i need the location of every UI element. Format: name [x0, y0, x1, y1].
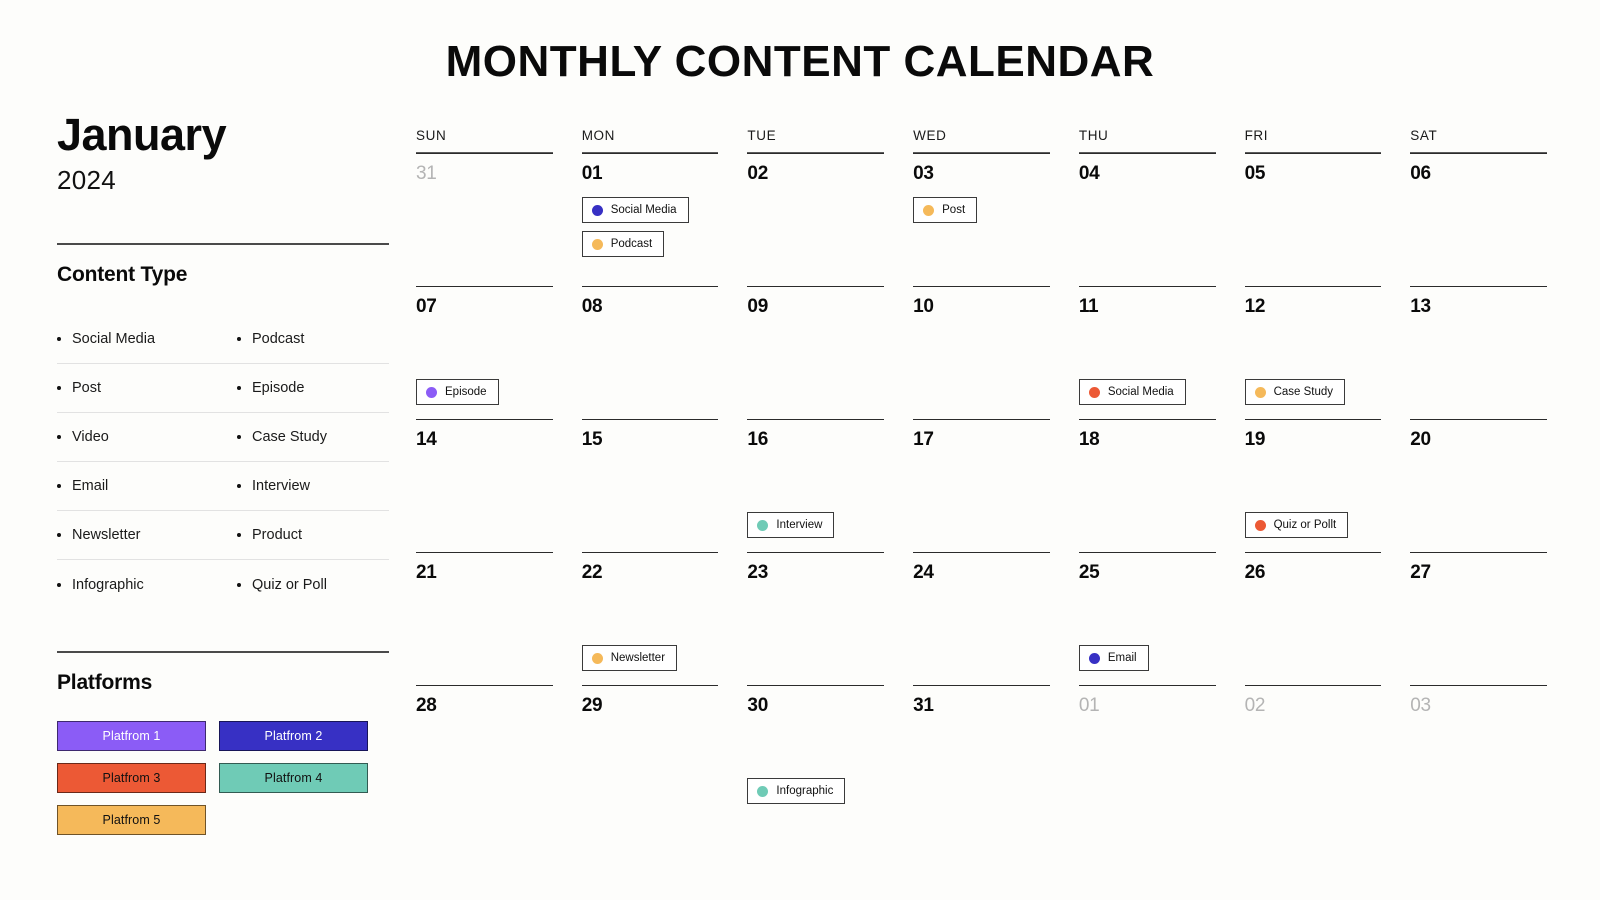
day-number: 02	[747, 163, 884, 185]
calendar-day-cell[interactable]: 14	[416, 419, 553, 552]
calendar-grid: SUNMONTUEWEDTHUFRISAT3101Social MediaPod…	[416, 128, 1547, 818]
day-of-week-header: SAT	[1410, 128, 1547, 153]
platform-chip[interactable]: Platfrom 1	[57, 721, 206, 751]
day-number: 05	[1245, 163, 1382, 185]
day-event-list: Episode	[416, 379, 499, 405]
day-number: 12	[1245, 296, 1382, 318]
bullet-icon	[237, 484, 241, 488]
calendar-day-cell[interactable]: 27	[1410, 552, 1547, 685]
bullet-icon	[57, 435, 61, 439]
bullet-icon	[57, 533, 61, 537]
content-type-row: NewsletterProduct	[57, 511, 389, 560]
day-event-list: Email	[1079, 645, 1149, 671]
bullet-icon	[57, 337, 61, 341]
platform-chip[interactable]: Platfrom 3	[57, 763, 206, 793]
day-number: 18	[1079, 429, 1216, 451]
calendar-day-cell[interactable]: 25Email	[1079, 552, 1216, 685]
content-type-heading: Content Type	[57, 263, 389, 287]
calendar-day-cell[interactable]: 21	[416, 552, 553, 685]
day-of-week-header: WED	[913, 128, 1050, 153]
content-type-label: Social Media	[72, 331, 155, 347]
calendar-day-cell[interactable]: 24	[913, 552, 1050, 685]
day-number: 03	[913, 163, 1050, 185]
event-label: Episode	[445, 386, 487, 398]
day-number: 14	[416, 429, 553, 451]
day-number: 17	[913, 429, 1050, 451]
calendar-day-cell[interactable]: 04	[1079, 153, 1216, 286]
day-number: 28	[416, 695, 553, 717]
calendar-day-cell[interactable]: 12Case Study	[1245, 286, 1382, 419]
content-type-row: Social MediaPodcast	[57, 315, 389, 364]
calendar-day-cell[interactable]: 31	[913, 685, 1050, 818]
day-number: 16	[747, 429, 884, 451]
day-number: 21	[416, 562, 553, 584]
day-event-list: Quiz or Pollt	[1245, 512, 1349, 538]
platform-chip-grid: Platfrom 1Platfrom 2Platfrom 3Platfrom 4…	[57, 721, 389, 835]
calendar-day-cell[interactable]: 06	[1410, 153, 1547, 286]
content-type-item[interactable]: Quiz or Poll	[237, 577, 389, 593]
calendar-day-cell[interactable]: 29	[582, 685, 719, 818]
day-number: 24	[913, 562, 1050, 584]
calendar-day-cell[interactable]: 05	[1245, 153, 1382, 286]
content-type-item[interactable]: Post	[57, 380, 237, 396]
day-number: 09	[747, 296, 884, 318]
calendar-day-cell[interactable]: 30Infographic	[747, 685, 884, 818]
platform-chip[interactable]: Platfrom 4	[219, 763, 368, 793]
content-type-label: Video	[72, 429, 109, 445]
calendar-day-cell[interactable]: 02	[747, 153, 884, 286]
bullet-icon	[237, 583, 241, 587]
day-number: 22	[582, 562, 719, 584]
bullet-icon	[57, 386, 61, 390]
event-chip[interactable]: Email	[1079, 645, 1149, 671]
day-number: 04	[1079, 163, 1216, 185]
month-label: January	[57, 112, 389, 157]
content-type-item[interactable]: Interview	[237, 478, 389, 494]
content-type-label: Episode	[252, 380, 304, 396]
day-number: 08	[582, 296, 719, 318]
calendar-day-cell[interactable]: 08	[582, 286, 719, 419]
event-color-dot-icon	[1089, 653, 1100, 664]
content-type-label: Newsletter	[72, 527, 141, 543]
bullet-icon	[57, 583, 61, 587]
calendar-day-cell[interactable]: 07Episode	[416, 286, 553, 419]
content-type-row: EmailInterview	[57, 462, 389, 511]
event-color-dot-icon	[1089, 387, 1100, 398]
content-type-item[interactable]: Case Study	[237, 429, 389, 445]
event-chip[interactable]: Infographic	[747, 778, 845, 804]
day-number: 03	[1410, 695, 1547, 717]
event-label: Podcast	[611, 238, 653, 250]
calendar-day-cell[interactable]: 11Social Media	[1079, 286, 1216, 419]
event-color-dot-icon	[757, 520, 768, 531]
event-chip[interactable]: Post	[913, 197, 977, 223]
event-color-dot-icon	[592, 205, 603, 216]
platform-chip[interactable]: Platfrom 2	[219, 721, 368, 751]
content-type-item[interactable]: Video	[57, 429, 237, 445]
day-event-list: Case Study	[1245, 379, 1345, 405]
content-type-label: Email	[72, 478, 108, 494]
platform-chip[interactable]: Platfrom 5	[57, 805, 206, 835]
calendar-day-cell[interactable]: 26	[1245, 552, 1382, 685]
content-type-item[interactable]: Social Media	[57, 331, 237, 347]
event-chip[interactable]: Social Media	[582, 197, 689, 223]
day-number: 02	[1245, 695, 1382, 717]
event-label: Case Study	[1274, 386, 1333, 398]
calendar-day-cell[interactable]: 02	[1245, 685, 1382, 818]
bullet-icon	[237, 435, 241, 439]
day-of-week-header: FRI	[1245, 128, 1382, 153]
event-color-dot-icon	[426, 387, 437, 398]
content-type-row: InfographicQuiz or Poll	[57, 560, 389, 609]
event-color-dot-icon	[1255, 387, 1266, 398]
day-number: 01	[582, 163, 719, 185]
day-number: 29	[582, 695, 719, 717]
day-number: 23	[747, 562, 884, 584]
content-type-item[interactable]: Episode	[237, 380, 389, 396]
event-chip[interactable]: Newsletter	[582, 645, 677, 671]
platforms-block: Platforms Platfrom 1Platfrom 2Platfrom 3…	[57, 651, 389, 835]
event-color-dot-icon	[1255, 520, 1266, 531]
content-type-item[interactable]: Podcast	[237, 331, 389, 347]
event-color-dot-icon	[592, 653, 603, 664]
day-of-week-header: SUN	[416, 128, 553, 153]
bullet-icon	[237, 533, 241, 537]
event-chip[interactable]: Podcast	[582, 231, 665, 257]
calendar-day-cell[interactable]: 20	[1410, 419, 1547, 552]
content-type-label: Product	[252, 527, 302, 543]
platforms-heading: Platforms	[57, 671, 389, 695]
calendar-day-cell[interactable]: 01Social MediaPodcast	[582, 153, 719, 286]
calendar-day-cell[interactable]: 03Post	[913, 153, 1050, 286]
content-type-label: Case Study	[252, 429, 327, 445]
divider	[57, 243, 389, 245]
day-number: 06	[1410, 163, 1547, 185]
day-number: 19	[1245, 429, 1382, 451]
calendar-day-cell[interactable]: 23	[747, 552, 884, 685]
content-type-label: Infographic	[72, 577, 144, 593]
event-label: Email	[1108, 652, 1137, 664]
content-type-label: Quiz or Poll	[252, 577, 327, 593]
content-type-item[interactable]: Newsletter	[57, 527, 237, 543]
day-number: 07	[416, 296, 553, 318]
day-number: 15	[582, 429, 719, 451]
day-event-list: Infographic	[747, 778, 845, 804]
day-number: 27	[1410, 562, 1547, 584]
calendar-day-cell[interactable]: 28	[416, 685, 553, 818]
day-of-week-header: TUE	[747, 128, 884, 153]
event-chip[interactable]: Interview	[747, 512, 834, 538]
calendar-day-cell[interactable]: 15	[582, 419, 719, 552]
year-label: 2024	[57, 165, 389, 196]
content-type-label: Podcast	[252, 331, 304, 347]
day-number: 26	[1245, 562, 1382, 584]
day-event-list: Newsletter	[582, 645, 677, 671]
event-color-dot-icon	[923, 205, 934, 216]
event-color-dot-icon	[757, 786, 768, 797]
calendar-day-cell[interactable]: 18	[1079, 419, 1216, 552]
calendar-day-cell[interactable]: 03	[1410, 685, 1547, 818]
calendar-day-cell[interactable]: 31	[416, 153, 553, 286]
event-label: Post	[942, 204, 965, 216]
calendar-day-cell[interactable]: 16Interview	[747, 419, 884, 552]
calendar: SUNMONTUEWEDTHUFRISAT3101Social MediaPod…	[416, 128, 1547, 818]
day-event-list: Interview	[747, 512, 834, 538]
page-title: MONTHLY CONTENT CALENDAR	[0, 38, 1600, 86]
content-type-label: Post	[72, 380, 101, 396]
event-label: Infographic	[776, 785, 833, 797]
day-number: 11	[1079, 296, 1216, 318]
event-chip[interactable]: Episode	[416, 379, 499, 405]
content-type-item[interactable]: Product	[237, 527, 389, 543]
day-event-list: Social Media	[1079, 379, 1186, 405]
event-label: Interview	[776, 519, 822, 531]
event-label: Newsletter	[611, 652, 665, 664]
calendar-day-cell[interactable]: 22Newsletter	[582, 552, 719, 685]
day-event-list: Post	[913, 197, 1050, 223]
calendar-day-cell[interactable]: 17	[913, 419, 1050, 552]
bullet-icon	[237, 386, 241, 390]
day-number: 01	[1079, 695, 1216, 717]
bullet-icon	[237, 337, 241, 341]
event-chip[interactable]: Social Media	[1079, 379, 1186, 405]
bullet-icon	[57, 484, 61, 488]
day-number: 31	[913, 695, 1050, 717]
calendar-day-cell[interactable]: 19Quiz or Pollt	[1245, 419, 1382, 552]
event-label: Social Media	[1108, 386, 1174, 398]
day-of-week-header: THU	[1079, 128, 1216, 153]
calendar-day-cell[interactable]: 10	[913, 286, 1050, 419]
calendar-page: MONTHLY CONTENT CALENDAR January 2024 Co…	[0, 0, 1600, 900]
event-label: Social Media	[611, 204, 677, 216]
event-color-dot-icon	[592, 239, 603, 250]
event-chip[interactable]: Case Study	[1245, 379, 1345, 405]
day-number: 20	[1410, 429, 1547, 451]
event-chip[interactable]: Quiz or Pollt	[1245, 512, 1349, 538]
divider	[57, 651, 389, 653]
day-number: 13	[1410, 296, 1547, 318]
day-event-list: Social MediaPodcast	[582, 197, 719, 257]
content-type-row: VideoCase Study	[57, 413, 389, 462]
sidebar: January 2024 Content Type Social MediaPo…	[57, 112, 389, 835]
content-type-label: Interview	[252, 478, 310, 494]
day-number: 30	[747, 695, 884, 717]
day-number: 31	[416, 163, 553, 185]
event-label: Quiz or Pollt	[1274, 519, 1337, 531]
calendar-day-cell[interactable]: 13	[1410, 286, 1547, 419]
calendar-day-cell[interactable]: 01	[1079, 685, 1216, 818]
day-number: 25	[1079, 562, 1216, 584]
day-number: 10	[913, 296, 1050, 318]
content-type-item[interactable]: Infographic	[57, 577, 237, 593]
content-type-row: PostEpisode	[57, 364, 389, 413]
calendar-day-cell[interactable]: 09	[747, 286, 884, 419]
day-of-week-header: MON	[582, 128, 719, 153]
content-type-list: Social MediaPodcastPostEpisodeVideoCase …	[57, 315, 389, 609]
content-type-item[interactable]: Email	[57, 478, 237, 494]
